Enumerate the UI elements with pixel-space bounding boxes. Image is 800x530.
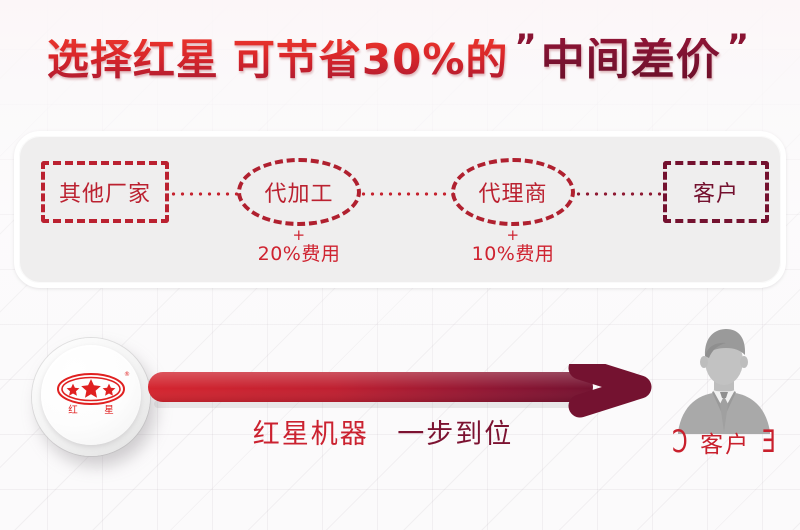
connector-2 <box>359 192 454 196</box>
logo-brand-right: 星 <box>104 405 114 416</box>
flow-fee-agent: + 10%费用 <box>433 228 593 265</box>
tagline-claim: 一步到位 <box>397 419 513 450</box>
tagline-brand: 红星机器 <box>253 419 369 450</box>
fee-amount: 20%费用 <box>258 243 341 265</box>
connector-1 <box>169 192 239 196</box>
quote-close-mark: ” <box>721 27 753 67</box>
status-badge: Ɔ 客户 Ǝ <box>640 424 800 460</box>
headline-part1: 选择红星 <box>47 39 219 81</box>
flow-fee-oem: + 20%费用 <box>219 228 379 265</box>
plus-sign: + <box>433 228 593 244</box>
distribution-chain-panel: 其他厂家 代加工 + 20%费用 代理商 + 10%费用 客户 <box>14 131 786 288</box>
headline-part2: 可节省30%的 <box>219 39 509 81</box>
connector-3 <box>574 192 664 196</box>
page-title: 选择红星 可节省30%的 ” 中间差价 ” <box>0 25 800 95</box>
flow-node-label: 代理商 <box>478 176 547 208</box>
flow-node-oem-processing[interactable]: 代加工 <box>237 158 361 226</box>
bottom-tagline: 红星机器 一步到位 <box>148 412 618 451</box>
flow-row: 其他厂家 代加工 + 20%费用 代理商 + 10%费用 客户 <box>19 136 781 283</box>
flow-node-agent[interactable]: 代理商 <box>451 158 575 226</box>
headline-emphasis: 中间差价 <box>541 38 721 82</box>
bracket-left-icon: Ɔ <box>672 427 688 458</box>
customer-label: 客户 <box>691 425 759 459</box>
flow-node-other-factory[interactable]: 其他厂家 <box>41 161 169 223</box>
flow-node-customer[interactable]: 客户 <box>663 161 769 223</box>
registered-trademark-icon: ® <box>124 371 130 378</box>
plus-sign: + <box>219 228 379 244</box>
logo-brand-left: 红 <box>68 404 78 416</box>
hongxing-logo[interactable]: 红 星 ® <box>32 338 150 456</box>
quote-open-mark: ” <box>508 27 540 67</box>
bracket-right-icon: Ǝ <box>762 427 776 458</box>
flow-node-label: 其他厂家 <box>59 176 151 208</box>
flow-node-label: 客户 <box>693 176 739 208</box>
flow-node-label: 代加工 <box>264 176 333 208</box>
fee-amount: 10%费用 <box>472 243 555 265</box>
logo-star-mark: 红 星 ® <box>41 345 141 445</box>
